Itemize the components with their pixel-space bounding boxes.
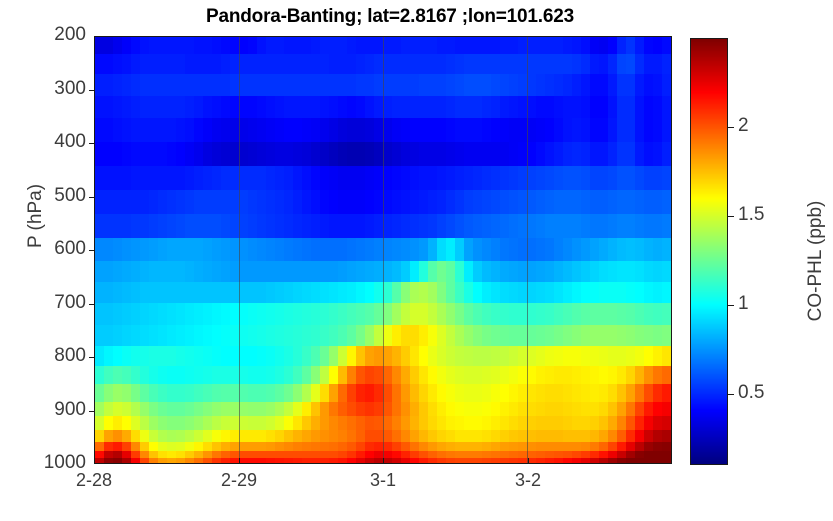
x-tick-mark	[383, 458, 384, 464]
colorbar-tick-mark	[728, 394, 734, 395]
x-tick-mark	[528, 458, 529, 464]
y-tick-label: 300	[2, 78, 86, 100]
x-tick-label: 3-2	[483, 470, 573, 491]
x-tick-label: 2-29	[194, 470, 284, 491]
gridline-vertical-0	[239, 37, 240, 463]
y-axis-label: P (hPa)	[25, 136, 47, 296]
heatmap-axes[interactable]	[94, 36, 672, 464]
y-tick-mark	[89, 90, 95, 91]
colorbar-label: CO-PHL (ppb)	[805, 151, 827, 371]
gridline-vertical-2	[527, 37, 528, 463]
colorbar-tick-label: 0.5	[738, 382, 764, 404]
colorbar-canvas	[691, 39, 727, 464]
y-tick-mark	[89, 304, 95, 305]
matlab-figure: Pandora-Banting; lat=2.8167 ;lon=101.623…	[0, 0, 833, 521]
figure-title: Pandora-Banting; lat=2.8167 ;lon=101.623	[0, 6, 780, 28]
colorbar-tick-mark	[728, 127, 734, 128]
colorbar[interactable]	[690, 38, 728, 465]
y-tick-mark	[89, 197, 95, 198]
colorbar-tick-label: 1.5	[738, 204, 764, 226]
colorbar-tick-mark	[728, 216, 734, 217]
y-tick-label: 800	[2, 345, 86, 367]
y-tick-label: 900	[2, 399, 86, 421]
y-tick-mark	[89, 357, 95, 358]
gridline-vertical-1	[383, 37, 384, 463]
colorbar-tick-mark	[728, 305, 734, 306]
x-tick-label: 2-28	[49, 470, 139, 491]
y-tick-mark	[89, 411, 95, 412]
y-tick-label: 200	[2, 24, 86, 46]
colorbar-tick-label: 2	[738, 115, 749, 137]
colorbar-tick-label: 1	[738, 293, 749, 315]
x-tick-label: 3-1	[338, 470, 428, 491]
x-tick-mark	[239, 458, 240, 464]
y-tick-mark	[89, 250, 95, 251]
y-tick-mark	[89, 143, 95, 144]
